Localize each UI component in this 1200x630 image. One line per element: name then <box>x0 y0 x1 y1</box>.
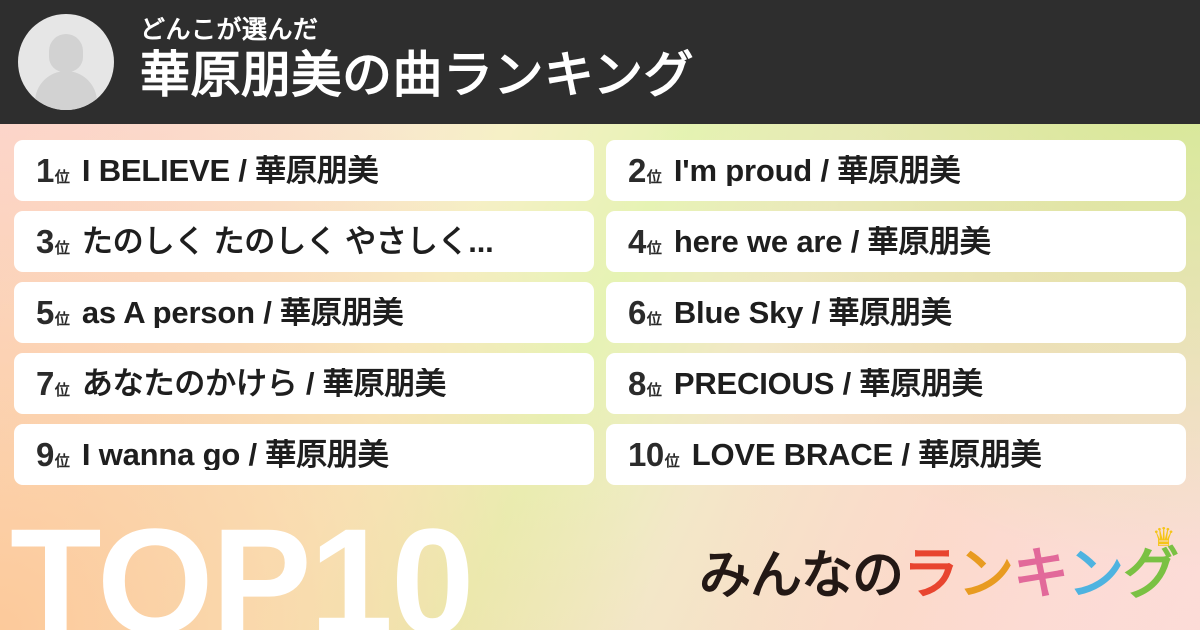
avatar-body-shape <box>35 71 97 110</box>
ranking-number-unit: 位 <box>647 383 662 398</box>
logo-char-ra: ラ <box>903 546 958 602</box>
ranking-number-value: 3 <box>36 225 54 258</box>
ranking-item[interactable]: 1位I BELIEVE / 華原朋美 <box>14 140 594 201</box>
ranking-number-value: 1 <box>36 154 54 187</box>
ranking-item[interactable]: 9位I wanna go / 華原朋美 <box>14 424 594 485</box>
ranking-item[interactable]: 6位Blue Sky / 華原朋美 <box>606 282 1186 343</box>
ranking-number-value: 4 <box>628 225 646 258</box>
user-avatar-placeholder-icon <box>18 14 114 110</box>
ranking-number: 7位 <box>36 367 70 400</box>
ranking-item[interactable]: 3位たのしく たのしく やさしく... <box>14 211 594 272</box>
ranking-item-title: PRECIOUS / 華原朋美 <box>674 368 983 399</box>
ranking-number: 6位 <box>628 296 662 329</box>
ranking-number-unit: 位 <box>55 312 70 327</box>
logo-black-text: みんなの <box>699 550 903 602</box>
ranking-number-value: 5 <box>36 296 54 329</box>
ranking-item[interactable]: 7位あなたのかけら / 華原朋美 <box>14 353 594 414</box>
ranking-list: 1位I BELIEVE / 華原朋美2位I'm proud / 華原朋美3位たの… <box>14 140 1186 485</box>
ranking-number-value: 9 <box>36 438 54 471</box>
ranking-item[interactable]: 5位as A person / 華原朋美 <box>14 282 594 343</box>
ranking-number-unit: 位 <box>55 241 70 256</box>
ranking-number: 3位 <box>36 225 70 258</box>
page-title: 華原朋美の曲ランキング <box>140 47 694 103</box>
ranking-number: 5位 <box>36 296 70 329</box>
ranking-item[interactable]: 10位LOVE BRACE / 華原朋美 <box>606 424 1186 485</box>
ranking-number-value: 10 <box>628 438 664 471</box>
header-subtitle: どんこが選んだ <box>140 17 694 43</box>
ranking-number-unit: 位 <box>647 170 662 185</box>
avatar-head-shape <box>49 34 83 72</box>
ranking-number: 8位 <box>628 367 662 400</box>
ranking-number-unit: 位 <box>665 454 680 469</box>
ranking-item-title: Blue Sky / 華原朋美 <box>674 297 952 328</box>
ranking-number-unit: 位 <box>55 454 70 469</box>
ranking-number-value: 7 <box>36 367 54 400</box>
ranking-number-value: 8 <box>628 367 646 400</box>
ranking-number-unit: 位 <box>647 312 662 327</box>
minna-no-ranking-logo: みんなのランキング♛ <box>699 546 1178 602</box>
logo-char-n2: ン <box>1068 546 1123 602</box>
ranking-item-title: LOVE BRACE / 華原朋美 <box>692 439 1042 470</box>
logo-char-n1: ン <box>958 546 1013 602</box>
ranking-number-value: 2 <box>628 154 646 187</box>
ranking-number-unit: 位 <box>55 383 70 398</box>
ranking-number: 4位 <box>628 225 662 258</box>
ranking-number-unit: 位 <box>647 241 662 256</box>
ranking-item[interactable]: 2位I'm proud / 華原朋美 <box>606 140 1186 201</box>
header-bar: どんこが選んだ 華原朋美の曲ランキング <box>0 0 1200 124</box>
crown-icon: ♛ <box>1152 524 1182 546</box>
ranking-number-unit: 位 <box>55 170 70 185</box>
logo-char-ki: キ <box>1013 546 1068 602</box>
ranking-item-title: I wanna go / 華原朋美 <box>82 439 389 470</box>
ranking-item-title: as A person / 華原朋美 <box>82 297 403 328</box>
ranking-item[interactable]: 4位here we are / 華原朋美 <box>606 211 1186 272</box>
ranking-item-title: I'm proud / 華原朋美 <box>674 155 961 186</box>
ranking-item[interactable]: 8位PRECIOUS / 華原朋美 <box>606 353 1186 414</box>
ranking-number-value: 6 <box>628 296 646 329</box>
header-titles: どんこが選んだ 華原朋美の曲ランキング <box>140 17 694 107</box>
ranking-item-title: たのしく たのしく やさしく... <box>82 226 494 257</box>
ranking-number: 9位 <box>36 438 70 471</box>
ranking-number: 2位 <box>628 154 662 187</box>
ranking-item-title: here we are / 華原朋美 <box>674 226 991 257</box>
ranking-share-card: どんこが選んだ 華原朋美の曲ランキング 1位I BELIEVE / 華原朋美2位… <box>0 0 1200 630</box>
ranking-number: 10位 <box>628 438 680 471</box>
ranking-item-title: I BELIEVE / 華原朋美 <box>82 155 379 186</box>
ranking-item-title: あなたのかけら / 華原朋美 <box>82 368 446 399</box>
ranking-number: 1位 <box>36 154 70 187</box>
logo-char-gu: グ♛ <box>1123 546 1178 602</box>
top10-watermark: TOP10 <box>10 506 473 630</box>
